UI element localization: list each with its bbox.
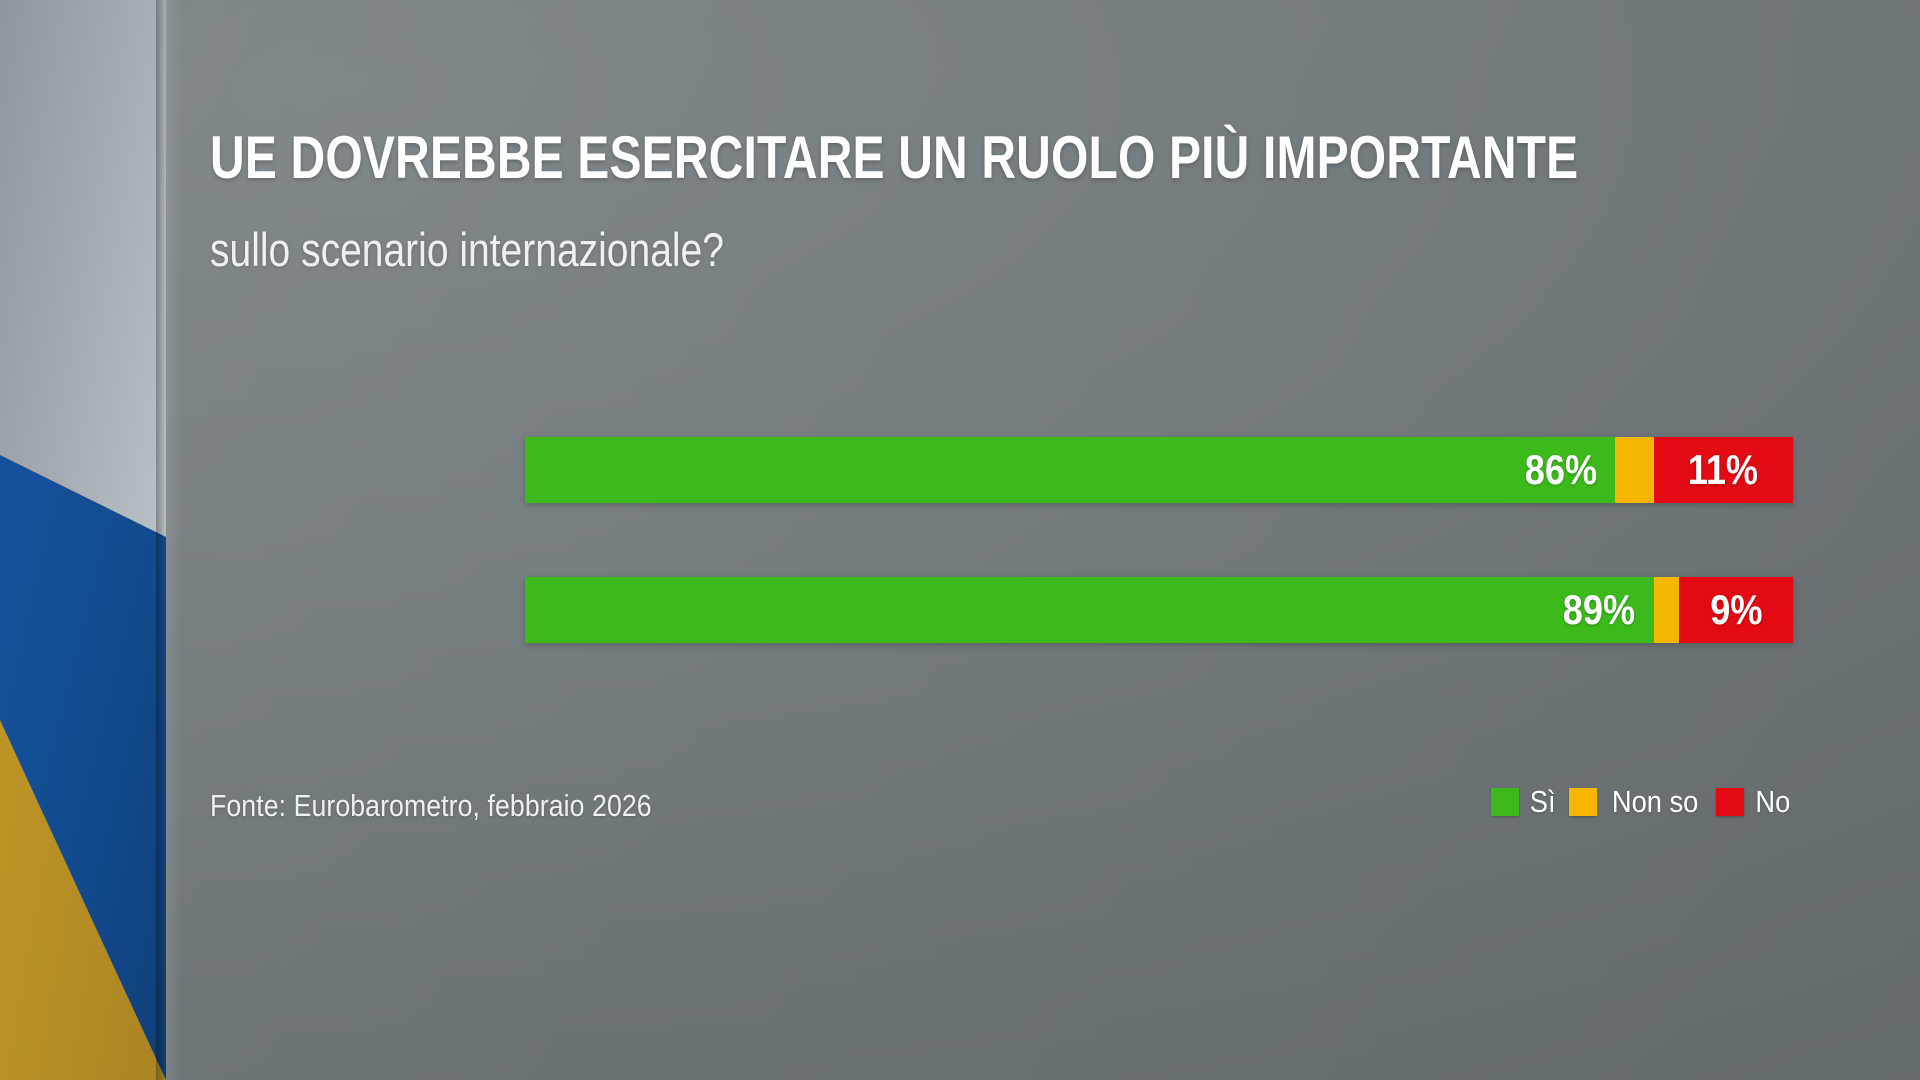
bar-value-yes: 89%: [1563, 589, 1635, 631]
bar-value-yes: 86%: [1525, 449, 1597, 491]
legend-item-no: No: [1716, 786, 1793, 817]
page-title: UE DOVREBBE ESERCITARE UN RUOLO PIÙ IMPO…: [210, 128, 1578, 188]
bar-value-no: 11%: [1688, 449, 1758, 491]
legend-label-no: No: [1756, 786, 1791, 817]
bar-value-no: 9%: [1710, 589, 1762, 631]
bar-segment-no: 9%: [1679, 577, 1793, 643]
bar-segment-dontknow: [1615, 437, 1653, 503]
bar-segment-yes: 89%: [525, 577, 1654, 643]
bar-segment-yes: 86%: [525, 437, 1615, 503]
source-note: Fonte: Eurobarometro, febbraio 2026: [210, 790, 652, 821]
legend-swatch-no: [1716, 788, 1744, 816]
stacked-bar-europei: 86% 11%: [525, 437, 1793, 503]
bar-segment-no: 11%: [1654, 437, 1793, 503]
legend-label-dontknow: Non so: [1612, 786, 1698, 817]
legend-item-yes: Sì: [1491, 786, 1557, 817]
legend-swatch-yes: [1491, 788, 1519, 816]
stacked-bar-italiani: 89% 9%: [525, 577, 1793, 643]
bar-segment-dontknow: [1654, 577, 1679, 643]
legend-item-dontknow: Non so: [1569, 786, 1704, 817]
page-subtitle: sullo scenario internazionale?: [210, 226, 724, 273]
legend-label-yes: Sì: [1530, 786, 1556, 817]
chart-legend: Sì Non so No: [1491, 786, 1793, 817]
legend-swatch-dontknow: [1569, 788, 1597, 816]
infographic-content: UE DOVREBBE ESERCITARE UN RUOLO PIÙ IMPO…: [0, 0, 1920, 1080]
